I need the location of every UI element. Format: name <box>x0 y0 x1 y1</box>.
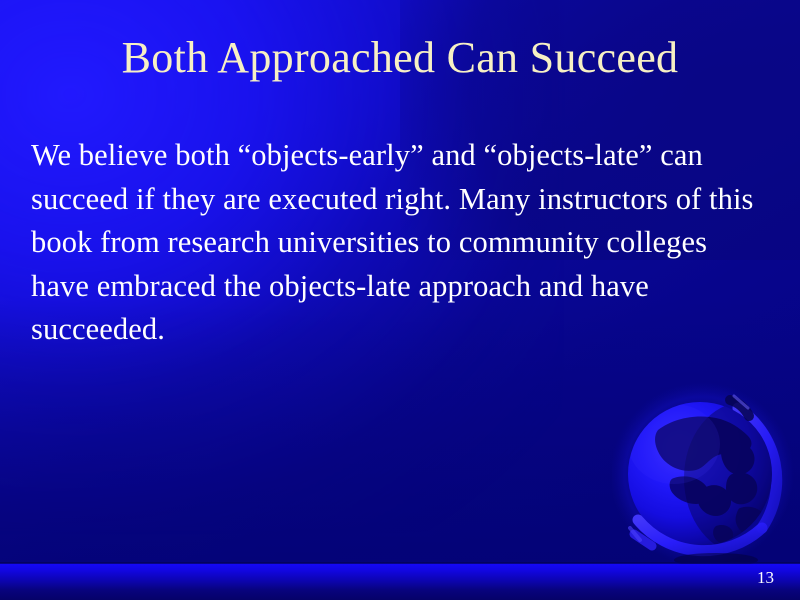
slide-page-number: 13 <box>757 568 774 588</box>
presentation-slide: Both Approached Can Succeed We believe b… <box>0 0 800 600</box>
slide-title: Both Approached Can Succeed <box>0 32 800 84</box>
footer-bar <box>0 564 800 600</box>
slide-body-text: We believe both “objects-early” and “obj… <box>31 134 767 352</box>
